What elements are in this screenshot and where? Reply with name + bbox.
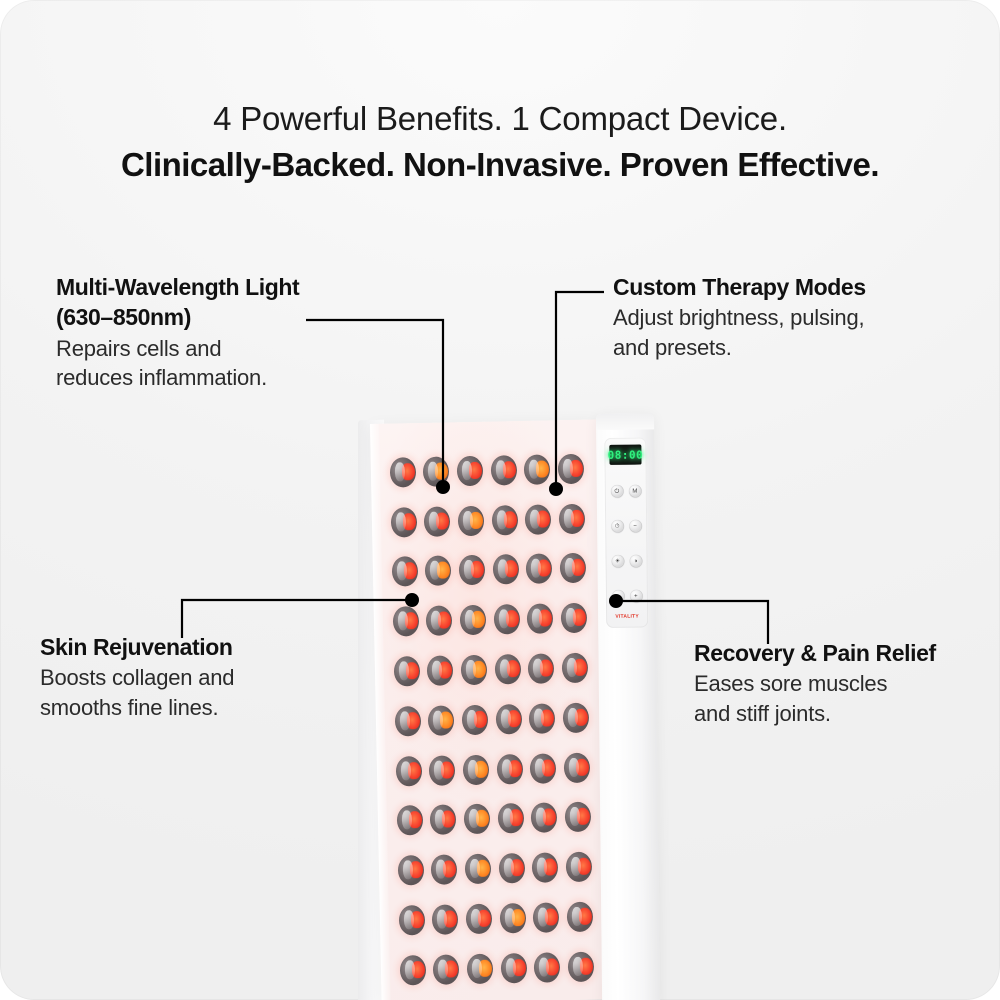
led-diode [492, 555, 519, 586]
callout-title: Custom Therapy Modes [613, 272, 973, 302]
led-diode [561, 603, 588, 634]
callout-title: Multi-Wavelength Light (630–850nm) [56, 272, 416, 333]
led-diode [395, 706, 422, 737]
callout-title: Recovery & Pain Relief [694, 638, 1000, 668]
headline: 4 Powerful Benefits. 1 Compact Device. C… [0, 96, 1000, 187]
device-top-cap [596, 413, 654, 430]
led-diode [397, 855, 424, 886]
led-diode [529, 703, 556, 734]
led-diode [564, 752, 591, 783]
control-button-grid: ⏻M⏱−☀◑●+ [608, 474, 645, 614]
led-diode [397, 805, 424, 836]
led-diode [491, 505, 518, 536]
led-diode [493, 604, 520, 635]
brightness-up-button[interactable]: ☀ [611, 555, 624, 568]
led-diode [530, 753, 557, 784]
led-grid [385, 444, 598, 996]
brand-logo: VITALITY [606, 613, 648, 619]
led-diode [393, 606, 420, 637]
callout-custom-therapy-modes: Custom Therapy Modes Adjust brightness, … [613, 272, 973, 362]
lcd-display: 08:00 [609, 445, 641, 465]
callout-description: Eases sore muscles and stiff joints. [694, 669, 1000, 728]
power-button[interactable]: ⏻ [610, 485, 623, 498]
pulse-button[interactable]: ◑ [629, 555, 642, 568]
led-diode [567, 902, 594, 933]
led-diode [526, 554, 553, 585]
callout-description: Repairs cells and reduces inflammation. [56, 334, 416, 393]
headline-line-1: 4 Powerful Benefits. 1 Compact Device. [0, 96, 1000, 142]
led-diode [563, 703, 590, 734]
led-diode [496, 754, 523, 785]
led-diode [433, 954, 460, 985]
plus-icon: + [634, 593, 638, 599]
led-diode [464, 804, 491, 835]
timer-button[interactable]: ⏱ [611, 520, 624, 533]
callout-description: Boosts collagen and smooths fine lines. [40, 663, 370, 722]
led-diode [562, 653, 589, 684]
led-diode [467, 954, 494, 985]
led-diode [461, 655, 488, 686]
plus-button[interactable]: + [629, 590, 642, 603]
led-diode [460, 605, 487, 636]
led-diode [430, 805, 457, 836]
led-diode [565, 802, 592, 833]
led-diode [392, 557, 419, 588]
led-diode [566, 852, 593, 883]
callout-description: Adjust brightness, pulsing, and presets. [613, 303, 973, 362]
preset-button[interactable]: ● [611, 590, 624, 603]
callout-skin-rejuvenation: Skin Rejuvenation Boosts collagen and sm… [40, 632, 370, 722]
led-diode [425, 556, 452, 587]
minus-icon: − [633, 523, 637, 529]
timer-icon: ⏱ [615, 523, 620, 529]
minus-button[interactable]: − [629, 520, 642, 533]
led-diode [463, 754, 490, 785]
benefits-infographic-card: 4 Powerful Benefits. 1 Compact Device. C… [0, 0, 1000, 1000]
led-diode [534, 952, 561, 983]
led-diode [466, 904, 493, 935]
led-diode [462, 705, 489, 736]
led-diode [398, 905, 425, 936]
led-diode [533, 902, 560, 933]
red-light-therapy-device: 08:00 ⏻M⏱−☀◑●+ VITALITY [352, 404, 652, 1000]
led-diode [429, 755, 456, 786]
led-diode [396, 756, 423, 787]
led-diode [524, 454, 551, 485]
led-panel-face [370, 419, 610, 1000]
led-diode [494, 654, 521, 685]
power-icon: ⏻ [614, 488, 619, 494]
led-diode [457, 456, 484, 487]
preset-icon: ● [616, 593, 620, 599]
led-diode [568, 951, 595, 982]
led-diode [528, 653, 555, 684]
headline-line-2: Clinically-Backed. Non-Invasive. Proven … [0, 142, 1000, 188]
led-diode [427, 655, 454, 686]
led-diode [394, 656, 421, 687]
led-diode [399, 955, 426, 986]
mode-button[interactable]: M [628, 485, 641, 498]
device-side-column: 08:00 ⏻M⏱−☀◑●+ VITALITY [596, 413, 660, 1000]
led-diode [426, 606, 453, 637]
led-diode [497, 803, 524, 834]
led-diode [390, 457, 417, 488]
mode-icon: M [632, 488, 637, 494]
callout-recovery-pain-relief: Recovery & Pain Relief Eases sore muscle… [694, 638, 1000, 728]
led-diode [424, 506, 451, 537]
brightness-up-icon: ☀ [615, 558, 620, 564]
led-diode [532, 853, 559, 884]
led-diode [431, 855, 458, 886]
led-diode [432, 904, 459, 935]
led-diode [423, 456, 450, 487]
led-diode [490, 455, 517, 486]
control-panel: 08:00 ⏻M⏱−☀◑●+ VITALITY [604, 437, 648, 627]
led-diode [458, 505, 485, 536]
led-diode [499, 903, 526, 934]
led-diode [559, 503, 586, 534]
callout-title: Skin Rejuvenation [40, 632, 370, 662]
led-diode [391, 507, 418, 538]
lcd-display-value: 08:00 [608, 449, 644, 460]
led-diode [560, 553, 587, 584]
led-diode [500, 953, 527, 984]
led-diode [558, 454, 585, 485]
led-diode [525, 504, 552, 535]
led-diode [428, 705, 455, 736]
led-diode [465, 854, 492, 885]
led-diode [498, 853, 525, 884]
led-diode [531, 803, 558, 834]
led-diode [459, 555, 486, 586]
led-diode [495, 704, 522, 735]
pulse-icon: ◑ [634, 558, 638, 564]
callout-multi-wavelength-light: Multi-Wavelength Light (630–850nm) Repai… [56, 272, 416, 392]
led-diode [527, 604, 554, 635]
